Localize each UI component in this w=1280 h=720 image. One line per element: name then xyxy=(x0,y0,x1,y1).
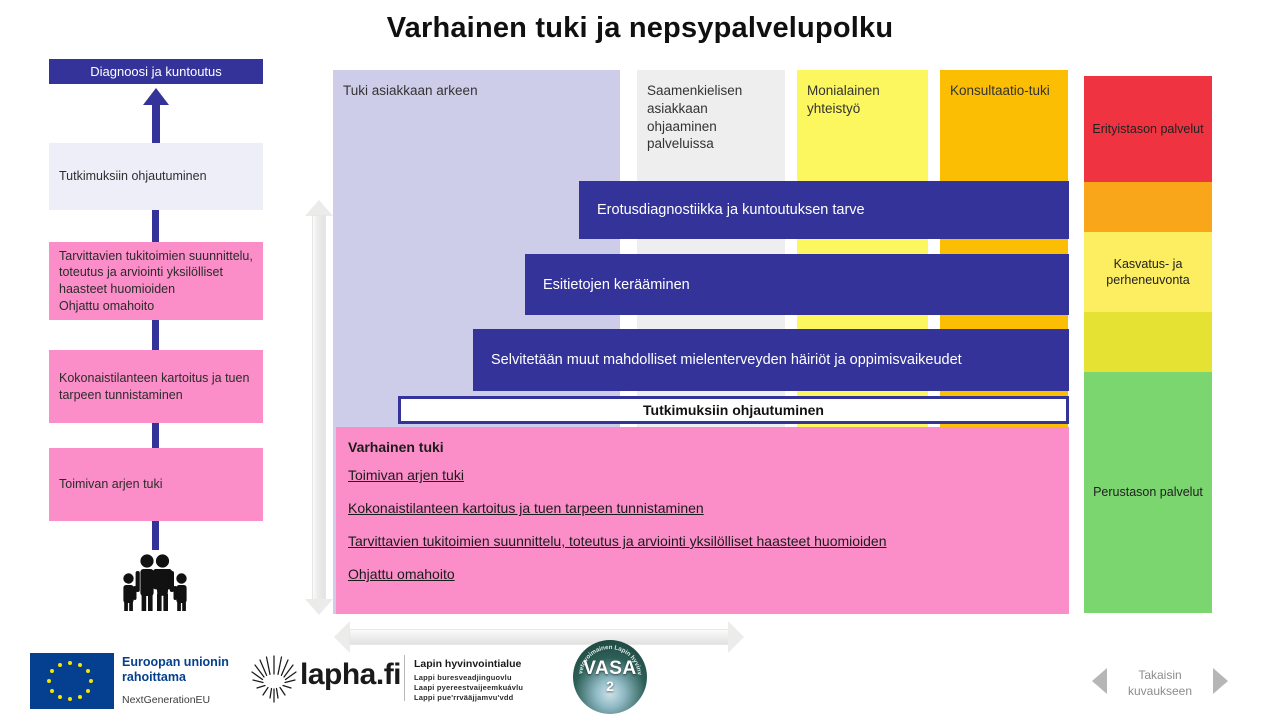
flow-arrow-stem xyxy=(152,104,160,143)
process-bar-selvitetaan-muut-mahdolliset[interactable]: Selvitetään muut mahdolliset mielenterve… xyxy=(473,329,1069,391)
process-bar-label: Esitietojen kerääminen xyxy=(543,277,690,293)
vasa-badge[interactable]: Vahva ja vetovoimainen Lapin hyvinvointi… xyxy=(573,640,647,714)
back-to-description-label[interactable]: Takaisin kuvaukseen xyxy=(1115,668,1205,699)
process-bar-label: Selvitetään muut mahdolliset mielenterve… xyxy=(491,352,962,368)
flow-connector xyxy=(152,210,159,242)
early-support-link-toimivan-arjen-tuki[interactable]: Toimivan arjen tuki xyxy=(348,467,1057,483)
process-bar-label: Erotusdiagnostiikka ja kuntoutuksen tarv… xyxy=(597,202,865,218)
matrix-column-label: Monialainen yhteistyö xyxy=(807,83,880,116)
flow-step-label: Diagnoosi ja kuntoutus xyxy=(90,63,222,80)
lapha-region-subtitle-sms: Lappi pue'rrvääjjamvu'vdd xyxy=(414,693,513,703)
process-bar-tutkimuksiin-ohjautuminen[interactable]: Tutkimuksiin ohjautuminen xyxy=(398,396,1069,424)
flow-step-label: Tutkimuksiin ohjautuminen xyxy=(59,168,207,185)
service-level-label: Kasvatus- ja perheneuvonta xyxy=(1084,256,1212,289)
service-level-band-yellow-green[interactable] xyxy=(1084,312,1212,372)
early-support-panel: Varhainen tuki Toimivan arjen tuki Kokon… xyxy=(336,427,1069,614)
triangle-right-icon[interactable] xyxy=(1213,668,1228,694)
service-level-kasvatus-ja-perheneuvonta[interactable]: Kasvatus- ja perheneuvonta xyxy=(1084,232,1212,312)
early-support-link-tarvittavien-tukitoimien[interactable]: Tarvittavien tukitoimien suunnittelu, to… xyxy=(348,533,1057,549)
service-level-label: Erityistason palvelut xyxy=(1092,121,1203,137)
early-support-title: Varhainen tuki xyxy=(348,439,1057,455)
flow-step-tarvittavien-tukitoimien[interactable]: Tarvittavien tukitoimien suunnittelu, to… xyxy=(49,242,263,320)
matrix-column-label: Tuki asiakkaan arkeen xyxy=(343,83,478,98)
flow-step-label: Kokonaistilanteen kartoitus ja tuen tarp… xyxy=(59,370,253,403)
lapha-region-subtitle-smn: Lappi buresveadjinguovlu xyxy=(414,673,512,683)
flow-step-toimivan-arjen-tuki[interactable]: Toimivan arjen tuki xyxy=(49,448,263,521)
service-level-band-orange[interactable] xyxy=(1084,182,1212,232)
flow-step-tutkimuksiin-ohjautuminen[interactable]: Tutkimuksiin ohjautuminen xyxy=(49,143,263,210)
flow-arrow-head-up xyxy=(143,88,169,105)
lapha-wordmark: lapha.fi xyxy=(300,658,401,692)
eu-funding-title: Euroopan unionin rahoittama xyxy=(122,655,242,686)
lapha-region-title: Lapin hyvinvointialue xyxy=(414,658,521,670)
matrix-column-label: Saamenkielisen asiakkaan ohjaaminen palv… xyxy=(647,83,742,151)
flow-connector xyxy=(152,423,159,448)
lapha-region-subtitle-smn2: Laapi pyereestvaijeemkuávlu xyxy=(414,683,523,693)
eu-funding-subtitle: NextGenerationEU xyxy=(122,694,262,706)
process-bar-erotusdiagnostiikka[interactable]: Erotusdiagnostiikka ja kuntoutuksen tarv… xyxy=(579,181,1069,239)
service-level-erityistason-palvelut[interactable]: Erityistason palvelut xyxy=(1084,76,1212,182)
lapha-divider xyxy=(404,655,405,701)
flow-step-label: Toimivan arjen tuki xyxy=(59,476,163,493)
flow-step-diagnoosi-ja-kuntoutus[interactable]: Diagnoosi ja kuntoutus xyxy=(49,59,263,84)
flow-step-kokonaistilanteen-kartoitus[interactable]: Kokonaistilanteen kartoitus ja tuen tarp… xyxy=(49,350,263,423)
service-level-perustason-palvelut[interactable]: Perustason palvelut xyxy=(1084,372,1212,613)
lapha-sun-icon xyxy=(250,652,298,704)
triangle-left-icon[interactable] xyxy=(1092,668,1107,694)
horizontal-range-arrow xyxy=(334,620,744,654)
flow-connector xyxy=(152,320,159,350)
process-bar-esitietojen-keraaminen[interactable]: Esitietojen kerääminen xyxy=(525,254,1069,315)
flow-step-label: Tarvittavien tukitoimien suunnittelu, to… xyxy=(59,248,253,315)
flow-connector xyxy=(152,521,159,550)
vasa-badge-ring-text: Vahva ja vetovoimainen Lapin hyvinvointi… xyxy=(573,640,647,714)
matrix-column-label: Konsultaatio-tuki xyxy=(950,83,1050,98)
page-title: Varhainen tuki ja nepsypalvelupolku xyxy=(0,12,1280,45)
family-icon xyxy=(117,552,193,612)
early-support-link-ohjattu-omahoito[interactable]: Ohjattu omahoito xyxy=(348,566,1057,582)
early-support-link-kokonaistilanteen-kartoitus[interactable]: Kokonaistilanteen kartoitus ja tuen tarp… xyxy=(348,500,1057,516)
eu-flag-icon xyxy=(30,653,114,709)
service-level-label: Perustason palvelut xyxy=(1093,484,1203,500)
process-bar-label: Tutkimuksiin ohjautuminen xyxy=(643,402,824,418)
